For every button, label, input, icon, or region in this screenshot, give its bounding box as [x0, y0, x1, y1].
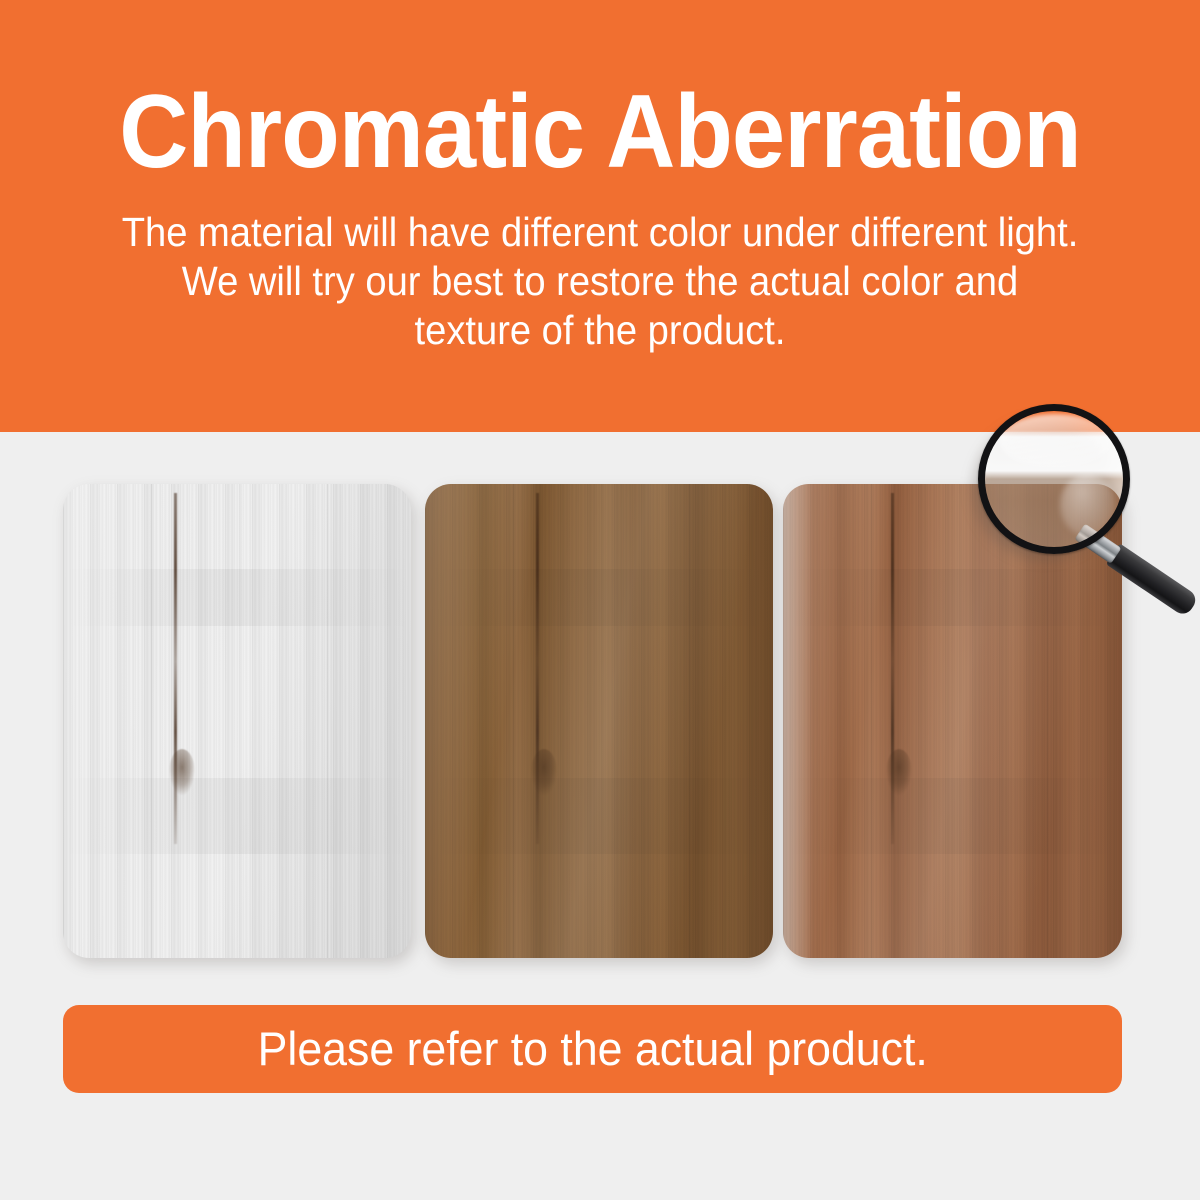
wood-swatch-gallery	[0, 432, 1200, 1005]
page-subtitle: The material will have different color u…	[98, 208, 1102, 355]
cinnamon-oak-swatch[interactable]	[783, 484, 1122, 958]
subtitle-line-2: We will try our best to restore the actu…	[98, 257, 1102, 306]
subtitle-line-3: texture of the product.	[98, 306, 1102, 355]
wood-sheen-overlay	[63, 484, 411, 958]
wood-sheen-overlay	[425, 484, 773, 958]
header-banner: Chromatic Aberration The material will h…	[0, 0, 1200, 432]
light-oak-swatch[interactable]	[63, 484, 411, 958]
footer-banner-text: Please refer to the actual product.	[257, 1023, 927, 1075]
page-title: Chromatic Aberration	[48, 78, 1152, 186]
subtitle-line-1: The material will have different color u…	[98, 208, 1102, 257]
dark-walnut-swatch[interactable]	[425, 484, 773, 958]
footer-banner: Please refer to the actual product.	[63, 1005, 1122, 1093]
wood-sheen-overlay	[783, 484, 1122, 958]
